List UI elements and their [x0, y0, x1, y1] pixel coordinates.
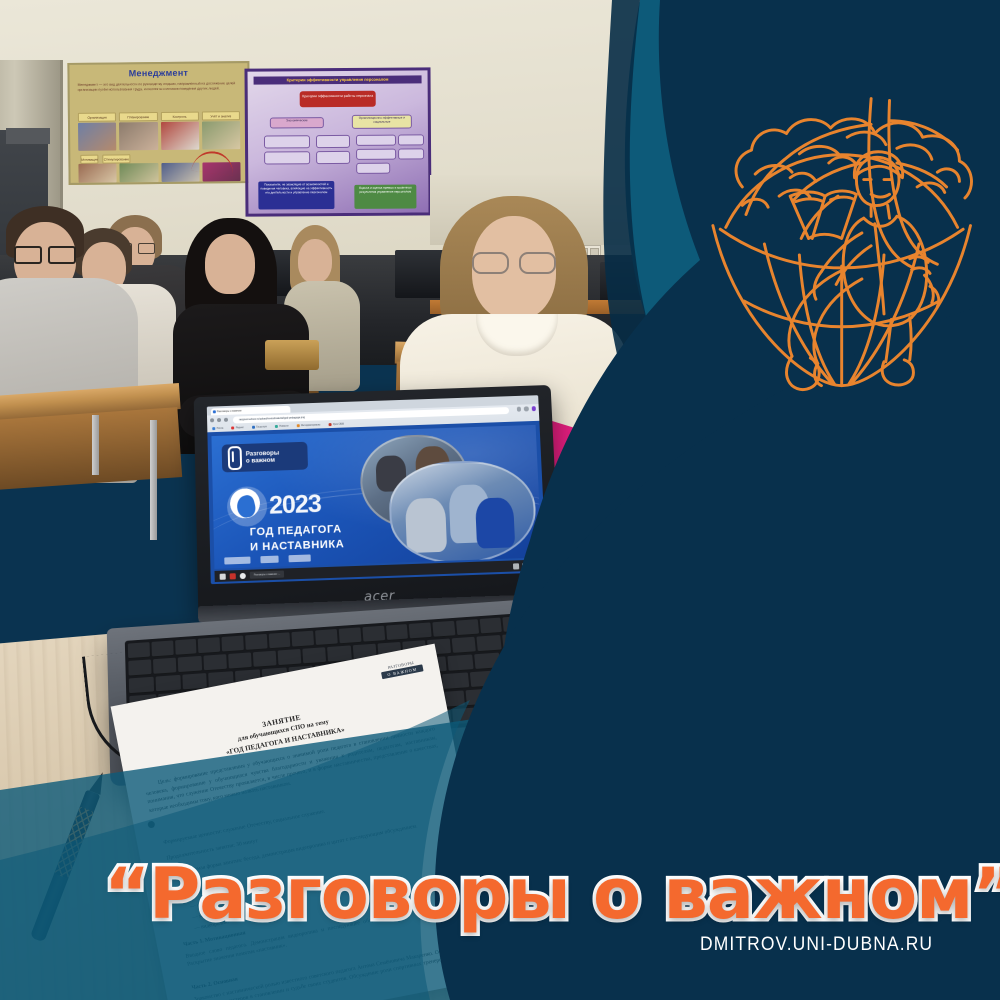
bookmark-label: Новости: [279, 425, 288, 428]
year-number: 2023: [269, 489, 321, 520]
avatar: [531, 406, 536, 411]
browser-tab[interactable]: Разговоры о важном: [211, 405, 291, 415]
paperclip-icon: [228, 446, 243, 470]
chip: Мотивация: [80, 155, 98, 164]
chip: Контроль: [160, 112, 198, 121]
bookmark-item: Методматериалы: [297, 423, 321, 427]
network-icon: [513, 563, 519, 569]
reload-icon: [224, 417, 228, 421]
battery-icon: [531, 562, 537, 568]
browser-nav-buttons[interactable]: [210, 417, 228, 422]
chip: Стимулирование: [103, 154, 130, 163]
browser-toolbar-right[interactable]: [516, 406, 536, 411]
classroom-photo: Менеджмент Менеджмент — это вид деятельн…: [0, 0, 1000, 1000]
year-emblem: 2023: [227, 484, 322, 527]
razgovory-badge: Разговоры о важном: [222, 442, 308, 473]
taskbar-tray[interactable]: [513, 562, 537, 569]
taskbar-window-item[interactable]: Разговоры о важном -...: [250, 571, 285, 579]
volume-icon: [522, 562, 528, 568]
back-icon: [210, 418, 214, 422]
criteria-diagram-poster: Критерии эффективности управления персон…: [244, 67, 431, 216]
laptop-screen[interactable]: Разговоры о важном razgovor.edsoo.ru/upl…: [207, 395, 547, 584]
forward-icon: [217, 418, 221, 422]
website-url: DMITROV.UNI-DUBNA.RU: [700, 934, 933, 956]
crane-bird-icon: [227, 486, 268, 527]
door-handle: [6, 128, 50, 144]
star-icon: [524, 406, 529, 411]
management-poster-body: Менеджмент — это вид деятельности по рук…: [78, 81, 240, 93]
chip: Организация: [78, 112, 116, 121]
bookmark-item: Почта: [212, 427, 223, 430]
desk-leg: [92, 415, 99, 475]
extension-icon: [516, 407, 521, 412]
desk-leg: [150, 420, 157, 540]
criteria-poster-title: Критерии эффективности управления персон…: [254, 75, 422, 84]
windows-start-icon[interactable]: [220, 573, 226, 579]
management-poster-chips: Организация Планирование Контроль Учёт и…: [78, 111, 240, 122]
criteria-yellow-box: Организационно-эффективные и социальные: [352, 114, 412, 128]
presentation-slide: Разговоры о важном 2023 ГОД ПЕДАГОГА И Н…: [211, 425, 541, 569]
bookmark-label: Методматериалы: [301, 423, 320, 427]
document-logo: РАЗГОВОРЫ О ВАЖНОМ: [380, 658, 424, 679]
management-poster: Менеджмент Менеджмент — это вид деятельн…: [67, 61, 250, 185]
bookmark-item: Яндекс: [231, 426, 244, 429]
glasses-icon: [472, 252, 556, 270]
bookmark-item: Урок ОБЖ: [328, 423, 344, 427]
management-poster-title: Менеджмент: [69, 67, 247, 79]
punch-hole: [147, 820, 155, 828]
badge-line-2: о важном: [246, 457, 280, 466]
criteria-blue-box: Показатели, не зависящие от возможностей…: [258, 181, 334, 210]
chair-back: [265, 340, 319, 370]
chip: Планирование: [119, 112, 157, 121]
bookmark-label: Почта: [217, 427, 224, 430]
management-poster-photos: [78, 121, 240, 151]
poster-canvas: Менеджмент Менеджмент — это вид деятельн…: [0, 0, 1000, 1000]
chrome-icon[interactable]: [240, 572, 246, 578]
page-title: “Разговоры о важном”: [104, 853, 1000, 935]
laptop-lid: Разговоры о важном razgovor.edsoo.ru/upl…: [194, 385, 561, 617]
glasses-icon: [14, 246, 76, 260]
printed-lesson-document: РАЗГОВОРЫ О ВАЖНОМ ЗАНЯТИЕ для обучающих…: [111, 644, 500, 1000]
criteria-pink-box: Экономические: [270, 117, 324, 128]
app-icon[interactable]: [230, 573, 236, 579]
chip: Учёт и анализ: [202, 111, 240, 120]
bookmark-item: Госуслуги: [252, 425, 267, 428]
bookmark-label: Урок ОБЖ: [333, 423, 344, 426]
criteria-red-box: Критерии эффективности работы персонала: [300, 91, 376, 108]
bookmark-label: Яндекс: [236, 426, 244, 429]
bookmark-item: Новости: [275, 425, 289, 428]
bookmark-label: Госуслуги: [256, 425, 267, 428]
criteria-green-box: Оценка и оценка прямых и косвенных резул…: [354, 184, 416, 208]
